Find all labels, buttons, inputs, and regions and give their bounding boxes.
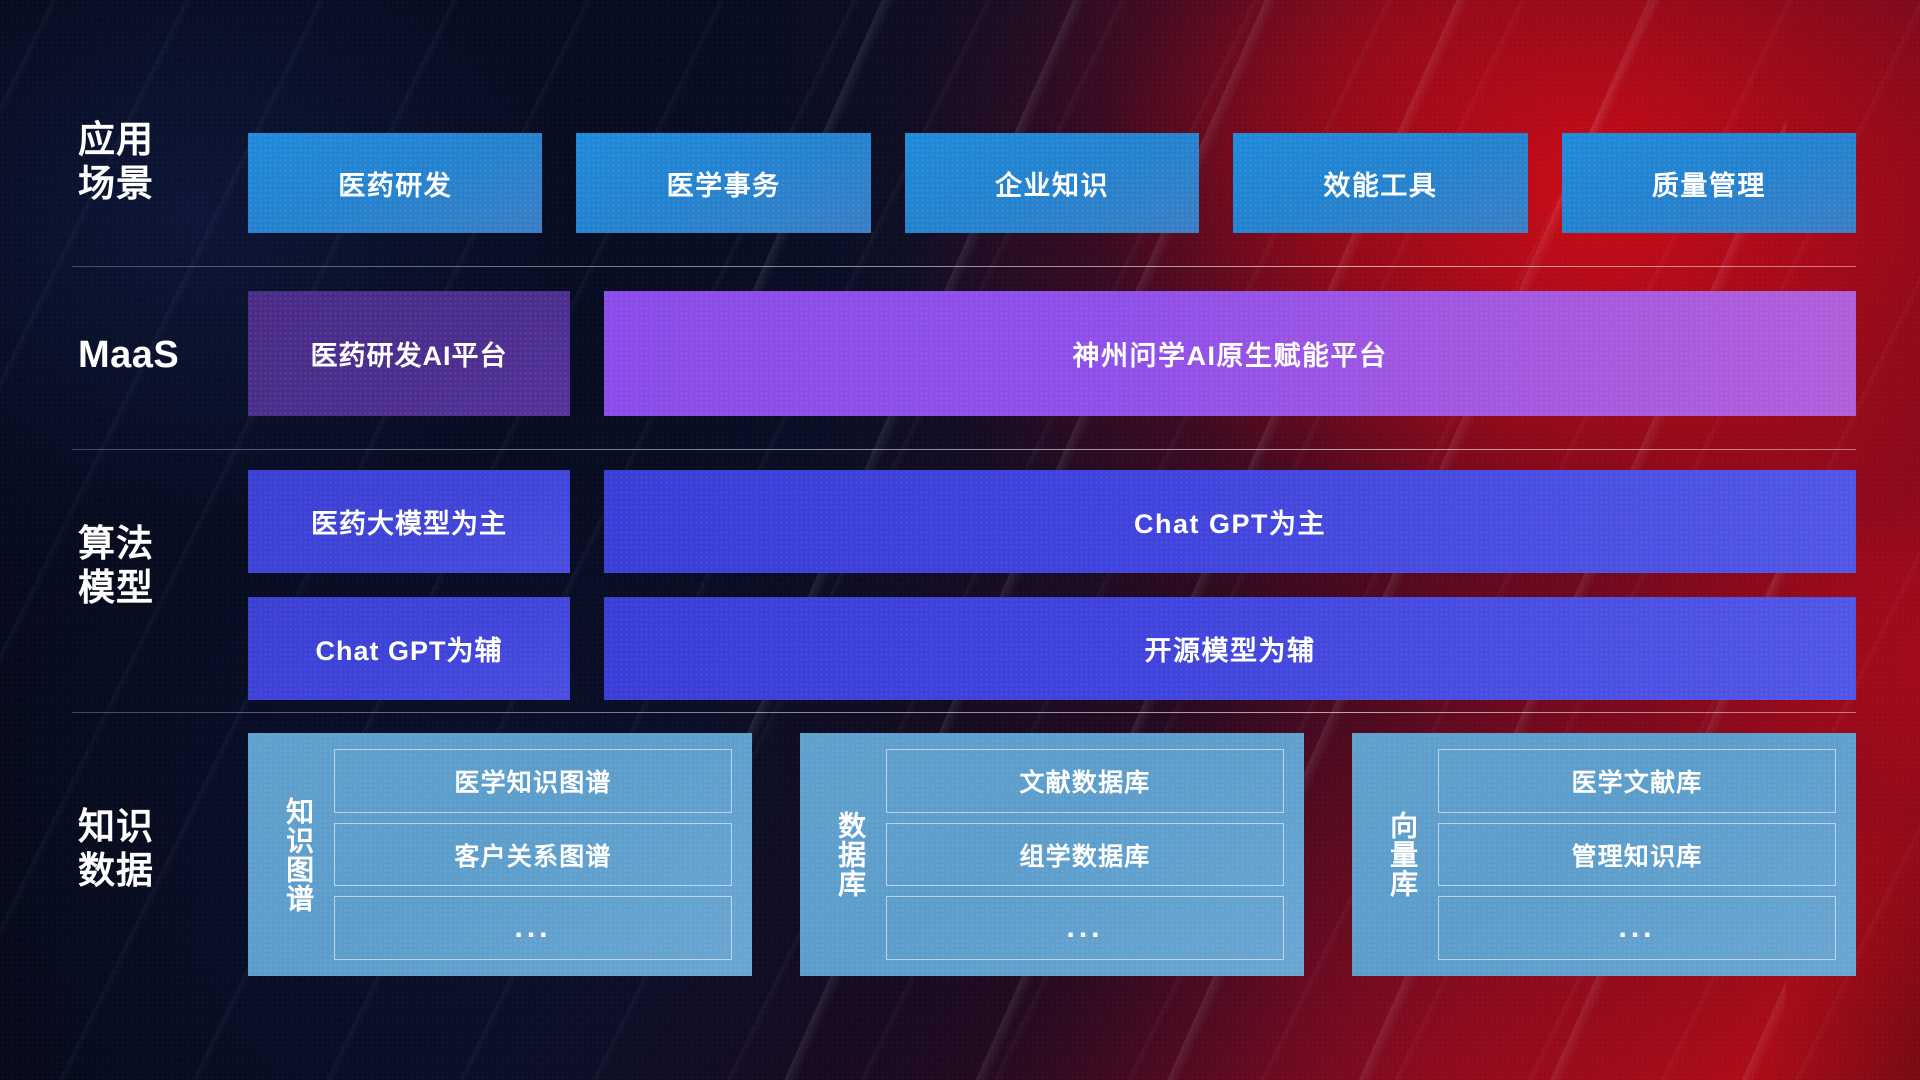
application-scenario-row: 医药研发 医学事务 企业知识 效能工具 质量管理 <box>248 133 1856 233</box>
app-card-label: 质量管理 <box>1652 164 1766 203</box>
knowledge-item[interactable]: 管理知识库 <box>1438 823 1836 887</box>
knowledge-item-more[interactable]: ... <box>334 896 732 960</box>
app-card-label: 医药研发 <box>338 164 452 203</box>
knowledge-item[interactable]: 医学文献库 <box>1438 749 1836 813</box>
knowledge-group-database[interactable]: 数据库 文献数据库 组学数据库 ... <box>800 733 1304 976</box>
knowledge-data-row: 知识图谱 医学知识图谱 客户关系图谱 ... 数据库 文献数据库 组学数据库 .… <box>248 733 1856 976</box>
app-card-1[interactable]: 医学事务 <box>576 133 870 233</box>
divider-3 <box>72 712 1856 713</box>
algo-card-label: 医药大模型为主 <box>311 502 507 541</box>
app-card-2[interactable]: 企业知识 <box>905 133 1199 233</box>
algo-card-label: 开源模型为辅 <box>1145 629 1316 668</box>
knowledge-item-list: 文献数据库 组学数据库 ... <box>886 749 1284 960</box>
maas-left-label: 医药研发AI平台 <box>311 334 508 373</box>
knowledge-item-list: 医学文献库 管理知识库 ... <box>1438 749 1836 960</box>
row-label-application-scenario: 应用 场景 <box>78 118 218 205</box>
app-card-label: 企业知识 <box>995 164 1109 203</box>
knowledge-item-list: 医学知识图谱 客户关系图谱 ... <box>334 749 732 960</box>
algo-card-primary-right[interactable]: Chat GPT为主 <box>604 470 1856 573</box>
app-card-4[interactable]: 质量管理 <box>1562 133 1856 233</box>
knowledge-group-vector[interactable]: 向量库 医学文献库 管理知识库 ... <box>1352 733 1856 976</box>
knowledge-group-title: 向量库 <box>1366 749 1438 960</box>
row-label-knowledge-data: 知识 数据 <box>78 805 218 892</box>
knowledge-item-more[interactable]: ... <box>1438 896 1836 960</box>
knowledge-item[interactable]: 文献数据库 <box>886 749 1284 813</box>
knowledge-group-graph[interactable]: 知识图谱 医学知识图谱 客户关系图谱 ... <box>248 733 752 976</box>
algo-card-secondary-left[interactable]: Chat GPT为辅 <box>248 597 570 700</box>
algorithm-model-row: 医药大模型为主 Chat GPT为主 Chat GPT为辅 开源模型为辅 <box>248 470 1856 700</box>
maas-platform-card-shenzhou[interactable]: 神州问学AI原生赋能平台 <box>604 291 1856 416</box>
diagram-canvas: 应用 场景 医药研发 医学事务 企业知识 效能工具 质量管理 MaaS 医药研发… <box>0 0 1920 1080</box>
app-card-label: 医学事务 <box>667 164 781 203</box>
app-card-0[interactable]: 医药研发 <box>248 133 542 233</box>
maas-right-label: 神州问学AI原生赋能平台 <box>1073 334 1388 373</box>
knowledge-item[interactable]: 医学知识图谱 <box>334 749 732 813</box>
algo-card-label: Chat GPT为主 <box>1134 502 1326 541</box>
algo-card-primary-left[interactable]: 医药大模型为主 <box>248 470 570 573</box>
algorithm-model-line-0: 医药大模型为主 Chat GPT为主 <box>248 470 1856 573</box>
row-label-maas: MaaS <box>78 333 218 378</box>
maas-row: 医药研发AI平台 神州问学AI原生赋能平台 <box>248 291 1856 416</box>
knowledge-item-more[interactable]: ... <box>886 896 1284 960</box>
algorithm-model-line-1: Chat GPT为辅 开源模型为辅 <box>248 597 1856 700</box>
app-card-3[interactable]: 效能工具 <box>1233 133 1527 233</box>
algo-card-secondary-right[interactable]: 开源模型为辅 <box>604 597 1856 700</box>
divider-1 <box>72 266 1856 267</box>
maas-platform-card-pharma[interactable]: 医药研发AI平台 <box>248 291 570 416</box>
row-label-algorithm-model: 算法 模型 <box>78 522 218 609</box>
knowledge-group-title: 知识图谱 <box>262 749 334 960</box>
knowledge-group-title: 数据库 <box>814 749 886 960</box>
knowledge-item[interactable]: 客户关系图谱 <box>334 823 732 887</box>
app-card-label: 效能工具 <box>1323 164 1437 203</box>
algo-card-label: Chat GPT为辅 <box>315 629 502 668</box>
knowledge-item[interactable]: 组学数据库 <box>886 823 1284 887</box>
divider-2 <box>72 449 1856 450</box>
